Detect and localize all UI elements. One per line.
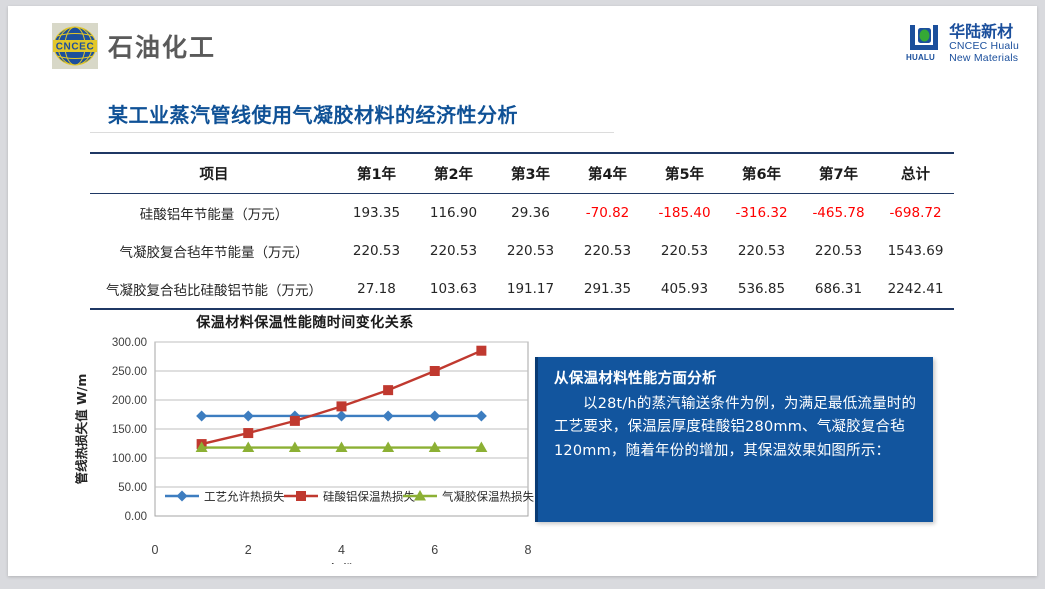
data-point-square [383, 385, 393, 395]
table-col-header-6: 第6年 [723, 153, 800, 194]
economics-table: 项目第1年第2年第3年第4年第5年第6年第7年总计 硅酸铝年节能量（万元）193… [90, 152, 954, 310]
legend-label: 气凝胶保温热损失 [442, 490, 534, 504]
table-col-header-5: 第5年 [646, 153, 723, 194]
cncec-company-name: 石油化工 [108, 28, 216, 64]
table-col-header-4: 第4年 [569, 153, 646, 194]
hualu-company-name-en-line2: New Materials [949, 53, 1019, 65]
table-row: 气凝胶复合毡比硅酸铝节能（万元）27.18103.63191.17291.354… [90, 270, 954, 309]
legend-label: 硅酸铝保温热损失 [323, 490, 415, 504]
analysis-heading: 从保温材料性能方面分析 [554, 367, 919, 388]
table-cell: 193.35 [338, 194, 415, 233]
hualu-company-name-cn: 华陆新材 [949, 23, 1019, 41]
table-col-header-7: 第7年 [800, 153, 877, 194]
analysis-callout: 从保温材料性能方面分析 以28t/h的蒸汽输送条件为例，为满足最低流量时的工艺要… [535, 357, 933, 522]
y-tick-label: 250.00 [112, 366, 147, 378]
y-tick-label: 100.00 [112, 453, 147, 465]
x-tick-label: 4 [338, 543, 345, 557]
table-cell: -316.32 [723, 194, 800, 233]
table-row-label: 气凝胶复合毡比硅酸铝节能（万元） [90, 270, 338, 309]
legend-label: 工艺允许热损失 [204, 490, 285, 504]
table-cell: 220.53 [800, 232, 877, 270]
slide-canvas: CNCEC 石油化工 HUALU 华陆新材 CNCEC Hualu New Ma… [8, 6, 1037, 576]
heat-loss-chart: 保温材料保温性能随时间变化关系 0.0050.00100.00150.00200… [70, 312, 540, 564]
cncec-logo: CNCEC 石油化工 [52, 23, 216, 69]
table-col-header-1: 第1年 [338, 153, 415, 194]
table-cell: 27.18 [338, 270, 415, 309]
table-cell: 103.63 [415, 270, 492, 309]
table-cell: -185.40 [646, 194, 723, 233]
table-cell: -70.82 [569, 194, 646, 233]
table-row: 气凝胶复合毡年节能量（万元）220.53220.53220.53220.5322… [90, 232, 954, 270]
table-header: 项目第1年第2年第3年第4年第5年第6年第7年总计 [90, 153, 954, 194]
data-point-square [337, 401, 347, 411]
analysis-body: 以28t/h的蒸汽输送条件为例，为满足最低流量时的工艺要求，保温层厚度硅酸铝28… [554, 393, 919, 463]
table-cell: 1543.69 [877, 232, 954, 270]
y-tick-label: 50.00 [118, 482, 147, 494]
y-tick-label: 0.00 [125, 511, 147, 523]
data-point-square [290, 416, 300, 426]
y-tick-label: 150.00 [112, 424, 147, 436]
x-axis-label: 年份 [329, 562, 355, 564]
table-cell: 220.53 [492, 232, 569, 270]
table-header-row: 项目第1年第2年第3年第4年第5年第6年第7年总计 [90, 153, 954, 194]
table-cell: -698.72 [877, 194, 954, 233]
table-cell: 2242.41 [877, 270, 954, 309]
y-axis-label: 管线热损失值 W/m [74, 374, 89, 485]
hualu-logo: HUALU 华陆新材 CNCEC Hualu New Materials [905, 22, 1019, 64]
data-point-square [430, 366, 440, 376]
data-point-square [243, 428, 253, 438]
svg-text:HUALU: HUALU [906, 53, 935, 62]
x-tick-label: 2 [245, 543, 252, 557]
table-row-label: 硅酸铝年节能量（万元） [90, 194, 338, 233]
data-point-square [296, 491, 306, 501]
table-cell: 220.53 [415, 232, 492, 270]
cncec-globe-icon: CNCEC [52, 23, 98, 69]
data-point-square [476, 346, 486, 356]
table-cell: 686.31 [800, 270, 877, 309]
table-col-header-3: 第3年 [492, 153, 569, 194]
table-col-header-8: 总计 [877, 153, 954, 194]
slide-header: CNCEC 石油化工 HUALU 华陆新材 CNCEC Hualu New Ma… [8, 6, 1037, 78]
svg-text:CNCEC: CNCEC [56, 42, 95, 53]
chart-title: 保温材料保温性能随时间变化关系 [70, 312, 540, 332]
table-cell: 29.36 [492, 194, 569, 233]
table-row: 硅酸铝年节能量（万元）193.35116.9029.36-70.82-185.4… [90, 194, 954, 233]
title-divider [90, 132, 614, 133]
x-tick-label: 8 [525, 543, 532, 557]
table-cell: -465.78 [800, 194, 877, 233]
table-col-header-item: 项目 [90, 153, 338, 194]
table-cell: 220.53 [338, 232, 415, 270]
x-tick-label: 0 [152, 543, 159, 557]
table-cell: 220.53 [646, 232, 723, 270]
y-tick-label: 300.00 [112, 337, 147, 349]
table-cell: 220.53 [569, 232, 646, 270]
page-title: 某工业蒸汽管线使用气凝胶材料的经济性分析 [108, 99, 518, 128]
table-cell: 220.53 [723, 232, 800, 270]
hualu-company-name-en-line1: CNCEC Hualu [949, 41, 1019, 53]
table-cell: 536.85 [723, 270, 800, 309]
table-cell: 405.93 [646, 270, 723, 309]
hualu-icon: HUALU [905, 22, 943, 62]
table-body: 硅酸铝年节能量（万元）193.35116.9029.36-70.82-185.4… [90, 194, 954, 310]
table-cell: 191.17 [492, 270, 569, 309]
table-cell: 116.90 [415, 194, 492, 233]
y-tick-label: 200.00 [112, 395, 147, 407]
table-col-header-2: 第2年 [415, 153, 492, 194]
table-cell: 291.35 [569, 270, 646, 309]
chart-plot: 0.0050.00100.00150.00200.00250.00300.000… [70, 334, 540, 564]
table-row-label: 气凝胶复合毡年节能量（万元） [90, 232, 338, 270]
x-tick-label: 6 [431, 543, 438, 557]
